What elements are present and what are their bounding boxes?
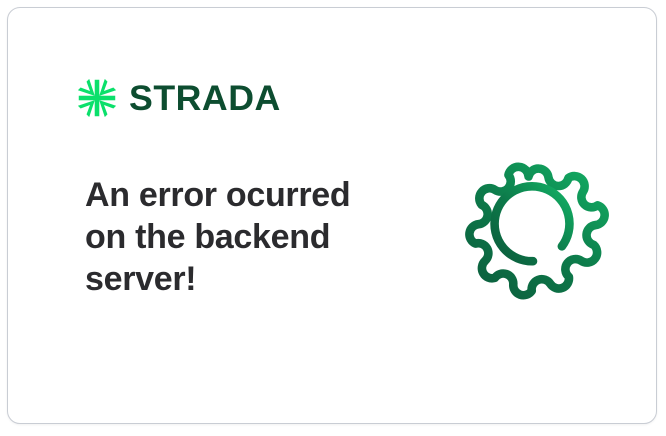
gear-spinner-icon [455,152,611,308]
error-card: STRADA An error ocurred on the backend s… [7,7,657,424]
strada-asterisk-icon [78,79,116,117]
error-message: An error ocurred on the backend server! [85,174,385,300]
brand-lockup: STRADA [78,76,278,120]
brand-wordmark: STRADA [129,81,281,116]
